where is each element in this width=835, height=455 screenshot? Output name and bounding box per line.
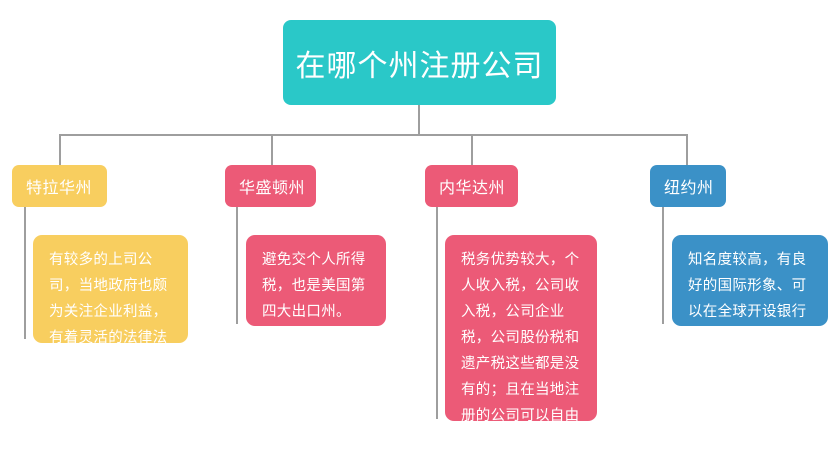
connector-branch-1-to-leaf (24, 207, 26, 339)
connector-branch-3-to-leaf (436, 207, 438, 419)
root-node-label: 在哪个州注册公司 (296, 41, 544, 85)
branch-description-delaware[interactable]: 有较多的上司公司，当地政府也颇为关注企业利益，有着灵活的法律法规。 (33, 235, 188, 343)
branch-description-new-york[interactable]: 知名度较高，有良好的国际形象、可以在全球开设银行账户，是美国的金融中心。 (672, 235, 828, 326)
branch-title-label: 华盛顿州 (239, 174, 305, 198)
branch-title-label: 内华达州 (439, 174, 505, 198)
root-node-topic[interactable]: 在哪个州注册公司 (283, 20, 556, 105)
branch-title-delaware[interactable]: 特拉华州 (12, 165, 107, 207)
branch-title-new-york[interactable]: 纽约州 (650, 165, 726, 207)
connector-drop-branch-4 (686, 134, 688, 166)
branch-description-nevada[interactable]: 税务优势较大，个人收入税，公司收入税，公司企业税，公司股份税和遗产税这些都是没有… (445, 235, 597, 421)
connector-drop-branch-2 (271, 134, 273, 166)
branch-title-nevada[interactable]: 内华达州 (425, 165, 518, 207)
connector-branch-2-to-leaf (236, 207, 238, 324)
connector-branch-4-to-leaf (662, 207, 664, 324)
mind-map-canvas: 在哪个州注册公司 特拉华州 有较多的上司公司，当地政府也颇为关注企业利益，有着灵… (0, 0, 835, 444)
connector-root-stem (418, 105, 420, 136)
branch-title-label: 特拉华州 (26, 174, 92, 198)
connector-drop-branch-3 (471, 134, 473, 166)
branch-description-washington[interactable]: 避免交个人所得税，也是美国第四大出口州。 (246, 235, 386, 326)
connector-horizontal-bus (59, 134, 688, 136)
branch-title-washington[interactable]: 华盛顿州 (225, 165, 316, 207)
branch-title-label: 纽约州 (664, 174, 714, 198)
connector-drop-branch-1 (59, 134, 61, 166)
